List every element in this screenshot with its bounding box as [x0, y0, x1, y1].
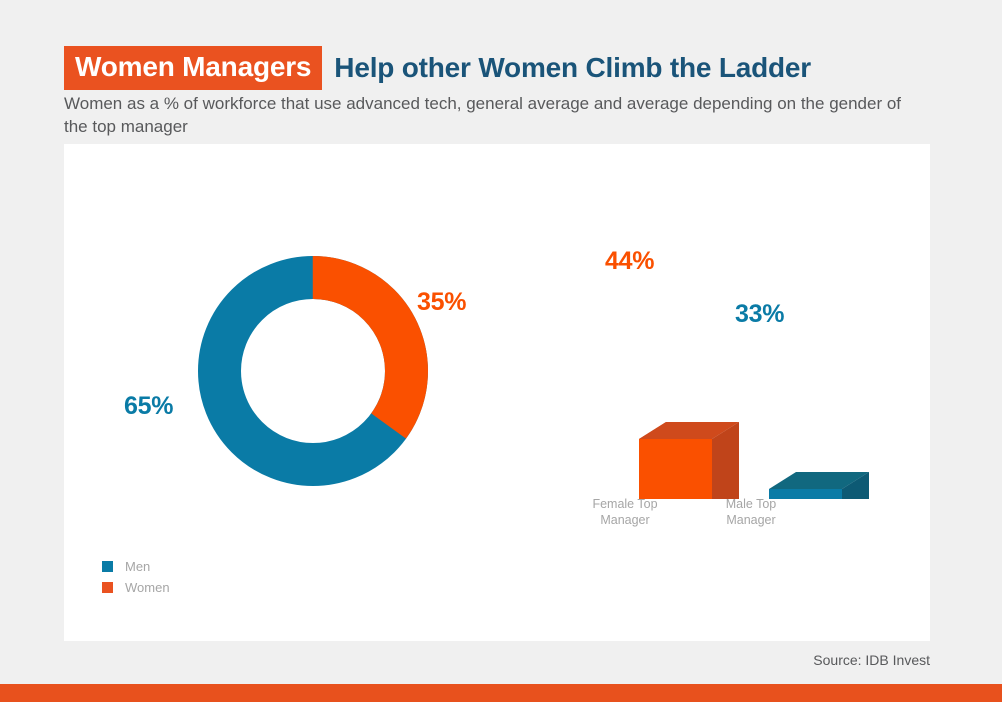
- bar-male-top-manager: [769, 472, 869, 499]
- infographic-page: Women Managers Help other Women Climb th…: [0, 0, 1002, 702]
- legend-swatch-women-icon: [102, 582, 113, 593]
- bar-category-female-line1: Female Top: [565, 496, 685, 512]
- page-subtitle: Women as a % of workforce that use advan…: [64, 92, 914, 138]
- donut-value-women: 35%: [417, 290, 466, 315]
- bar-category-male-top-manager: Male Top Manager: [691, 496, 811, 528]
- title-remainder: Help other Women Climb the Ladder: [334, 54, 811, 82]
- bar-female-front-face: [639, 439, 712, 499]
- bar-category-female-top-manager: Female Top Manager: [565, 496, 685, 528]
- donut-value-men: 65%: [124, 394, 173, 419]
- bottom-accent-bar: [0, 684, 1002, 702]
- bar-category-male-line2: Manager: [691, 512, 811, 528]
- bar-chart-3d: [554, 284, 894, 499]
- source-note: Source: IDB Invest: [0, 652, 930, 668]
- legend-item-men: Men: [102, 556, 170, 577]
- legend-swatch-men-icon: [102, 561, 113, 572]
- legend-label-women: Women: [125, 581, 170, 594]
- legend-item-women: Women: [102, 577, 170, 598]
- chart-legend: Men Women: [102, 556, 170, 598]
- bar-female-top-manager: [639, 422, 739, 499]
- bar-category-male-line1: Male Top: [691, 496, 811, 512]
- donut-chart-svg: [198, 256, 428, 486]
- bar-category-female-line2: Manager: [565, 512, 685, 528]
- bar-value-female-top-manager: 44%: [605, 249, 654, 274]
- donut-chart: [198, 256, 428, 486]
- page-title: Women Managers Help other Women Climb th…: [64, 49, 811, 87]
- legend-label-men: Men: [125, 560, 150, 573]
- chart-card: 35% 65% 44% 33% Female Top Manager: [64, 144, 930, 641]
- bar-value-male-top-manager: 33%: [735, 302, 784, 327]
- title-highlight-badge: Women Managers: [64, 46, 322, 90]
